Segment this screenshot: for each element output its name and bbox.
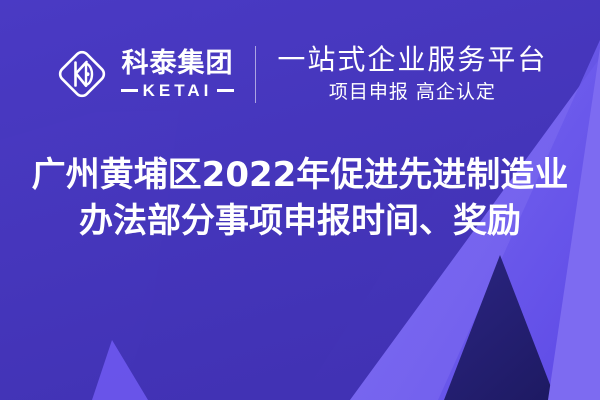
ketai-diamond-logo-icon (53, 45, 111, 103)
banner-header: 科泰集团 KETAI 一站式企业服务平台 项目申报 高企认定 (0, 34, 600, 114)
brand-name-cn: 科泰集团 (121, 50, 233, 77)
tagline-sub: 项目申报 高企认定 (329, 83, 496, 102)
brand-text-block: 科泰集团 KETAI (121, 50, 235, 99)
brand-lockup: 科泰集团 KETAI (53, 45, 235, 103)
brand-name-en-row: KETAI (121, 82, 235, 99)
brand-rule-left-icon (121, 89, 138, 92)
brand-rule-right-icon (217, 89, 234, 92)
tagline-block: 一站式企业服务平台 项目申报 高企认定 (277, 46, 547, 102)
brand-name-en: KETAI (143, 82, 213, 99)
headline-line-1: 广州黄埔区2022年促进先进制造业 (32, 152, 569, 198)
headline-block: 广州黄埔区2022年促进先进制造业 办法部分事项申报时间、奖励 (0, 152, 600, 244)
header-divider (255, 46, 256, 103)
headline-line-2: 办法部分事项申报时间、奖励 (79, 198, 521, 244)
tagline-main: 一站式企业服务平台 (277, 46, 547, 74)
promo-banner: 科泰集团 KETAI 一站式企业服务平台 项目申报 高企认定 广州黄埔区2022… (0, 0, 600, 400)
